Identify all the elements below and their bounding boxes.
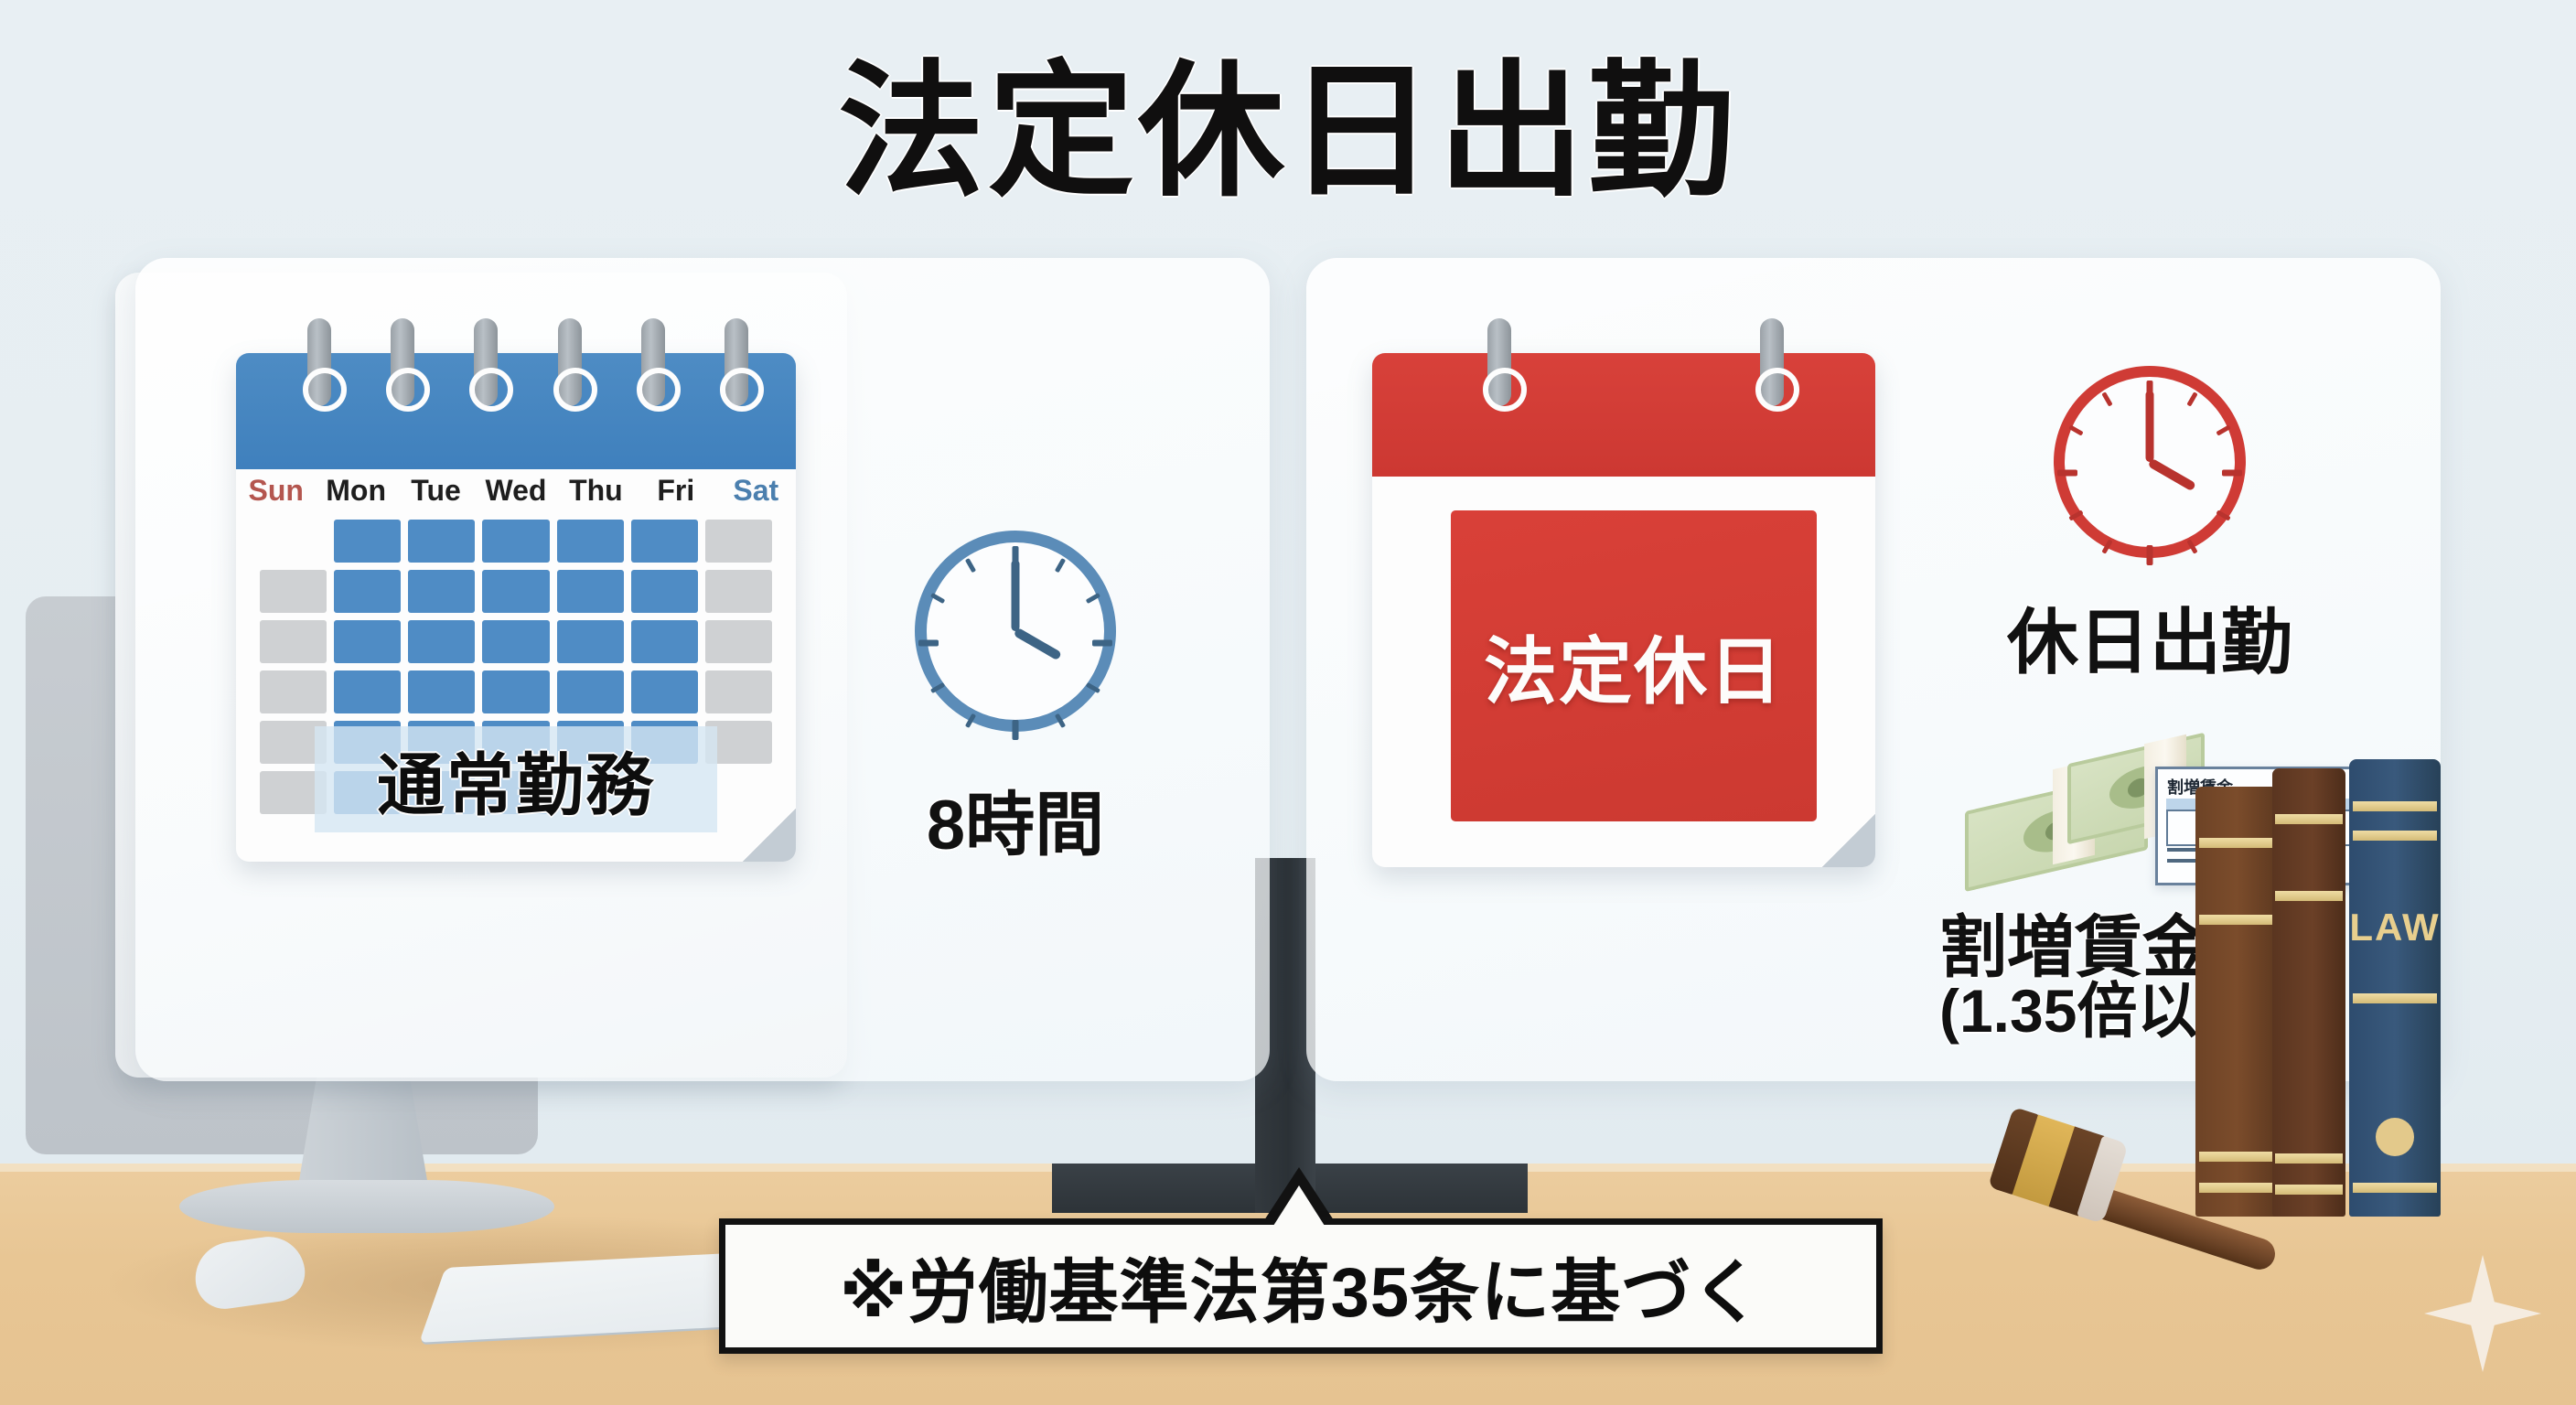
calendar-label-statutory-holiday: 法定休日: [1484, 613, 1784, 719]
book-gold-band: [2199, 1183, 2275, 1193]
day-header-thu: Thu: [556, 474, 636, 508]
clock-tick: [965, 558, 976, 573]
clock-tick: [2222, 470, 2242, 477]
calendar-ring: [307, 318, 331, 406]
book-gold-band: [2275, 1153, 2343, 1164]
banner-pointer-inner: [1273, 1185, 1325, 1226]
calendar-cell-work: [334, 620, 401, 663]
day-header-sun: Sun: [236, 474, 316, 508]
law-book-spine-text: LAW: [2349, 906, 2441, 949]
footnote-text: ※労働基準法第35条に基づく: [840, 1236, 1762, 1336]
calendar-cell-work: [408, 570, 475, 613]
day-header-fri: Fri: [636, 474, 715, 508]
calendar-cell-off: [260, 670, 327, 713]
day-header-wed: Wed: [476, 474, 555, 508]
monitor-foot: [179, 1180, 554, 1233]
calendar-cell-work: [334, 670, 401, 713]
clock-tick: [2101, 391, 2112, 406]
clock-tick: [930, 593, 945, 604]
label-8-hours: 8時間: [878, 768, 1153, 869]
book-gold-band: [2353, 1183, 2437, 1193]
calendar-ring: [474, 318, 498, 406]
book-gold-band: [2199, 1152, 2275, 1162]
calendar-cell-work: [557, 620, 624, 663]
clock-tick: [1013, 720, 1019, 740]
footnote-banner: ※労働基準法第35条に基づく: [719, 1218, 1883, 1354]
clock-tick: [2216, 509, 2230, 520]
clock-icon-holiday-work: [2054, 366, 2246, 558]
calendar-cell-off: [705, 520, 772, 563]
calendar-cell-off: [705, 570, 772, 613]
clock-tick: [918, 640, 939, 647]
calendar-cell-off: [260, 570, 327, 613]
book-gold-band: [2275, 1185, 2343, 1195]
infographic-canvas: 法定休日出勤 SunMonTueWedThuFriSat 通常勤務 8時間 法定…: [0, 0, 2576, 1405]
calendar-ring: [558, 318, 582, 406]
calendar-body-red: 法定休日: [1451, 510, 1817, 821]
calendar-ring: [1487, 318, 1511, 406]
book-gold-band: [2199, 915, 2275, 925]
premium-wage-line1: 割増賃金: [1939, 909, 2210, 985]
clock-hour-hand: [2148, 458, 2196, 492]
book-gold-band: [2353, 801, 2437, 811]
book-gold-band: [2275, 891, 2343, 901]
clock-tick: [2068, 424, 2083, 435]
clock-minute-hand: [1012, 560, 1020, 631]
calendar-cell-off: [705, 620, 772, 663]
calendar-cell-work: [482, 670, 549, 713]
book-gold-band: [2199, 838, 2275, 848]
label-holiday-work: 休日出勤: [1948, 585, 2351, 688]
clock-tick: [1086, 682, 1100, 693]
calendar-cell-work: [631, 670, 698, 713]
calendar-ring: [641, 318, 665, 406]
page-title: 法定休日出勤: [0, 13, 2576, 225]
calendar-ring: [1760, 318, 1784, 406]
clock-tick: [1092, 640, 1112, 647]
clock-tick: [2057, 470, 2077, 477]
calendar-cell-work: [557, 520, 624, 563]
law-book-brown-2: [2272, 768, 2345, 1217]
clock-tick: [2068, 509, 2083, 520]
calendar-statutory-holiday: 法定休日: [1372, 353, 1875, 867]
calendar-cell-off: [260, 620, 327, 663]
day-header-mon: Mon: [316, 474, 395, 508]
calendar-cell-work: [631, 620, 698, 663]
page-curl-icon: [743, 809, 796, 862]
book-gold-band: [2353, 993, 2437, 1003]
clock-icon-8hours: [915, 531, 1116, 732]
calendar-cell-work: [482, 520, 549, 563]
clock-hour-hand: [1014, 627, 1062, 661]
calendar-cell-work: [408, 670, 475, 713]
clock-tick: [1055, 558, 1066, 573]
law-book-seal-icon: [2376, 1118, 2414, 1156]
calendar-cell-off: [705, 670, 772, 713]
calendar-normal-work: SunMonTueWedThuFriSat 通常勤務: [236, 353, 796, 862]
law-book-blue: LAW: [2349, 759, 2441, 1217]
calendar-cell-work: [482, 620, 549, 663]
law-book-brown-1: [2195, 787, 2278, 1217]
clock-tick: [930, 682, 945, 693]
clock-tick: [2186, 391, 2197, 406]
calendar-ring: [724, 318, 748, 406]
clock-tick: [1086, 593, 1100, 604]
clock-minute-hand: [2146, 391, 2154, 462]
day-header-tue: Tue: [396, 474, 476, 508]
calendar-cell-work: [557, 670, 624, 713]
calendar-cell-work: [482, 570, 549, 613]
calendar-cell-work: [408, 520, 475, 563]
calendar-cell-work: [557, 570, 624, 613]
calendar-cell-work: [631, 520, 698, 563]
day-header-sat: Sat: [716, 474, 796, 508]
book-gold-band: [2353, 831, 2437, 841]
page-curl-icon: [1822, 814, 1875, 867]
calendar-ring: [391, 318, 414, 406]
clock-tick: [2147, 545, 2153, 565]
calendar-cell-none: [260, 520, 327, 563]
calendar-cell-work: [631, 570, 698, 613]
book-gold-band: [2275, 814, 2343, 824]
calendar-cell-work: [408, 620, 475, 663]
calendar-label-normal-work: 通常勤務: [315, 726, 717, 832]
calendar-header-red: [1372, 353, 1875, 477]
clock-tick: [2216, 424, 2230, 435]
calendar-cell-work: [334, 570, 401, 613]
calendar-cell-work: [334, 520, 401, 563]
day-of-week-row: SunMonTueWedThuFriSat: [236, 474, 796, 508]
